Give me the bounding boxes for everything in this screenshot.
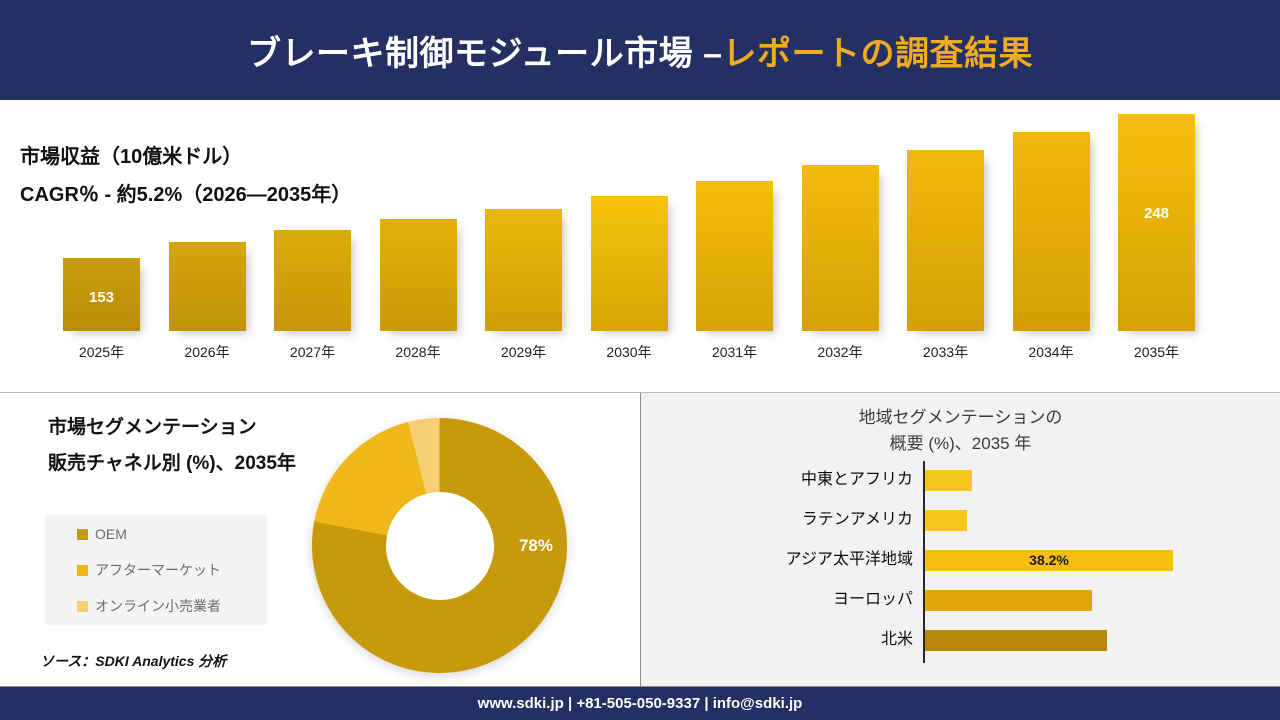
region-label: 北米 <box>681 621 913 659</box>
bar-value-label: 153 <box>63 289 140 306</box>
title-dash: – <box>703 35 722 73</box>
title-accent-text: レポートの調査結果 <box>723 35 1034 73</box>
footer-contact-text: www.sdki.jp | +81-505-050-9337 | info@sd… <box>478 695 803 712</box>
legend-swatch-icon <box>77 601 88 612</box>
region-row: アジア太平洋地域38.2% <box>641 541 1280 579</box>
region-row: ラテンアメリカ <box>641 501 1280 539</box>
revenue-bar: 2029年 <box>485 209 562 331</box>
segmentation-title: 市場セグメンテーション 販売チャネル別 (%)、2035年 <box>48 410 348 482</box>
donut-hole <box>386 492 494 600</box>
revenue-bar: 2033年 <box>907 150 984 331</box>
bar-axis-label: 2031年 <box>684 342 785 362</box>
bar-axis-label: 2026年 <box>157 342 258 362</box>
donut-chart: 78% <box>312 418 567 673</box>
segmentation-title-line-2: 販売チャネル別 (%)、2035年 <box>48 446 348 482</box>
bar-value-label: 248 <box>1118 205 1195 222</box>
segmentation-panel: 市場セグメンテーション 販売チャネル別 (%)、2035年 OEMアフターマーケ… <box>0 393 640 686</box>
legend-item-label: OEM <box>95 526 127 542</box>
region-label: 中東とアフリカ <box>681 461 913 499</box>
bar-axis-label: 2034年 <box>1001 342 1102 362</box>
revenue-bar: 2034年 <box>1013 132 1090 331</box>
revenue-bar: 2482035年 <box>1118 114 1195 331</box>
region-title: 地域セグメンテーションの 概要 (%)、2035 年 <box>641 405 1280 457</box>
source-note: ソース：SDKI Analytics 分析 <box>40 651 226 671</box>
revenue-bar: 2032年 <box>802 165 879 331</box>
title-main-text: ブレーキ制御モジュール市場 <box>247 35 693 73</box>
bar-axis-label: 2025年 <box>51 342 152 362</box>
revenue-bar-chart: 1532025年2026年2027年2028年2029年2030年2031年20… <box>0 104 1280 392</box>
revenue-chart-section: 市場収益（10億米ドル） CAGR％ - 約5.2%（2026―2035年） 1… <box>0 104 1280 392</box>
region-label: ラテンアメリカ <box>681 501 913 539</box>
bar-column: 2032年 <box>802 165 879 331</box>
bar-column: 2482035年 <box>1118 114 1195 331</box>
region-row: 北米 <box>641 621 1280 659</box>
bar-column: 2028年 <box>380 219 457 331</box>
segmentation-legend: OEMアフターマーケットオンライン小売業者 <box>45 515 267 625</box>
revenue-bar: 2027年 <box>274 230 351 331</box>
revenue-bar: 1532025年 <box>63 258 140 331</box>
region-label: ヨーロッパ <box>681 581 913 619</box>
bar-axis-label: 2032年 <box>790 342 891 362</box>
bar-axis-label: 2030年 <box>579 342 680 362</box>
bar-axis-label: 2027年 <box>262 342 363 362</box>
revenue-bar: 2030年 <box>591 196 668 331</box>
infographic-page: ブレーキ制御モジュール市場 –レポートの調査結果 市場収益（10億米ドル） CA… <box>0 0 1280 720</box>
bar-axis-label: 2035年 <box>1106 342 1207 362</box>
bar-column: 2031年 <box>696 181 773 331</box>
revenue-bar: 2026年 <box>169 242 246 331</box>
legend-item: OEM <box>77 516 267 552</box>
legend-swatch-icon <box>77 565 88 576</box>
region-value-label: 38.2% <box>1029 550 1069 571</box>
segmentation-title-line-1: 市場セグメンテーション <box>48 410 348 446</box>
bar-axis-label: 2029年 <box>473 342 574 362</box>
page-title: ブレーキ制御モジュール市場 –レポートの調査結果 <box>247 26 1033 75</box>
bar-column: 2034年 <box>1013 132 1090 331</box>
bar-column: 2033年 <box>907 150 984 331</box>
bar-column: 2029年 <box>485 209 562 331</box>
region-row: 中東とアフリカ <box>641 461 1280 499</box>
region-panel: 地域セグメンテーションの 概要 (%)、2035 年 中東とアフリカラテンアメリ… <box>641 393 1280 686</box>
legend-item: アフターマーケット <box>77 552 267 588</box>
region-bar <box>925 510 967 531</box>
legend-swatch-icon <box>77 529 88 540</box>
bar-column: 2030年 <box>591 196 668 331</box>
bar-column: 1532025年 <box>63 258 140 331</box>
legend-item: オンライン小売業者 <box>77 588 267 624</box>
revenue-bar: 2028年 <box>380 219 457 331</box>
region-bar <box>925 630 1107 651</box>
legend-item-label: アフターマーケット <box>95 560 221 580</box>
region-bar <box>925 590 1092 611</box>
bar-column: 2026年 <box>169 242 246 331</box>
revenue-bar: 2031年 <box>696 181 773 331</box>
bar-axis-label: 2028年 <box>368 342 469 362</box>
region-title-line-2: 概要 (%)、2035 年 <box>641 431 1280 457</box>
bar-axis-label: 2033年 <box>895 342 996 362</box>
region-title-line-1: 地域セグメンテーションの <box>641 405 1280 431</box>
footer-banner: www.sdki.jp | +81-505-050-9337 | info@sd… <box>0 687 1280 720</box>
bar-column: 2027年 <box>274 230 351 331</box>
header-banner: ブレーキ制御モジュール市場 –レポートの調査結果 <box>0 0 1280 100</box>
region-row: ヨーロッパ <box>641 581 1280 619</box>
region-label: アジア太平洋地域 <box>681 541 913 579</box>
legend-item-label: オンライン小売業者 <box>95 596 221 616</box>
donut-value-label: 78% <box>519 536 553 556</box>
region-bar-chart: 中東とアフリカラテンアメリカアジア太平洋地域38.2%ヨーロッパ北米 <box>641 461 1280 671</box>
region-bar <box>925 470 972 491</box>
